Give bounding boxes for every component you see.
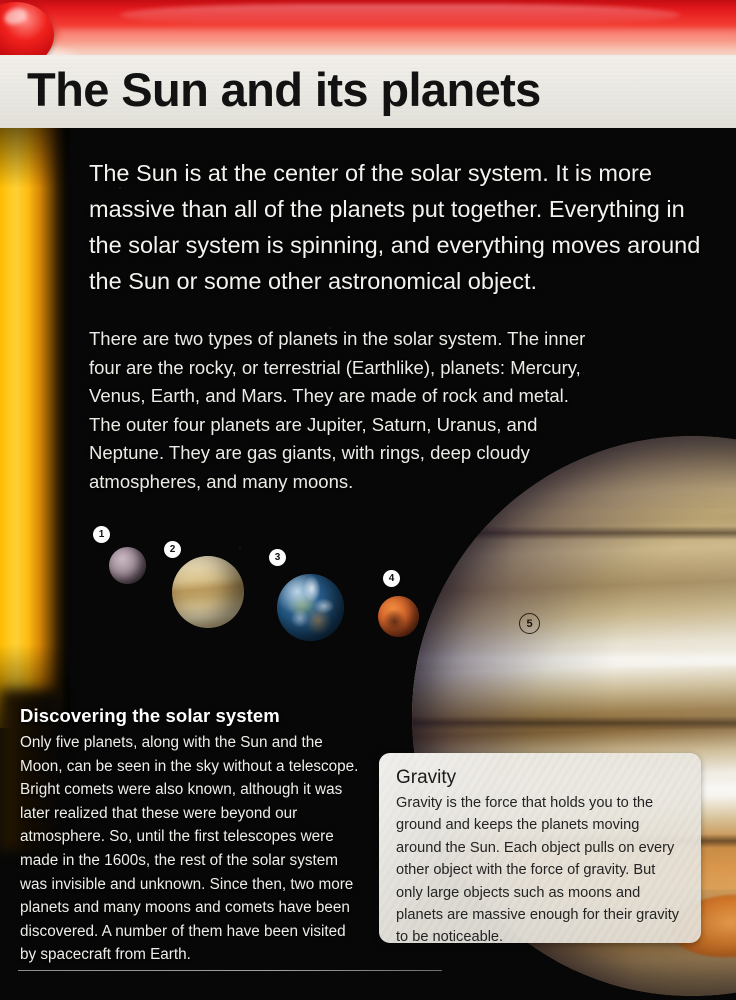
planet-callout-2: 2 (164, 541, 181, 558)
secondary-paragraph: There are two types of planets in the so… (89, 325, 589, 497)
discovering-body: Only five planets, along with the Sun an… (20, 731, 365, 967)
gravity-body: Gravity is the force that holds you to t… (396, 792, 685, 943)
planet-mars (378, 596, 419, 637)
banner-highlight-streak (120, 4, 680, 26)
discovering-heading: Discovering the solar system (20, 705, 365, 727)
gravity-callout-box: Gravity Gravity is the force that holds … (379, 753, 701, 943)
planet-venus (172, 556, 244, 628)
sun-glow (0, 128, 70, 728)
planet-callout-3: 3 (269, 549, 286, 566)
planet-callout-4: 4 (383, 570, 400, 587)
planet-callout-1: 1 (93, 526, 110, 543)
top-banner (0, 0, 736, 58)
gravity-heading: Gravity (396, 767, 685, 789)
footer-divider (18, 970, 442, 971)
page-canvas: The Sun and its planets The Sun is at th… (0, 0, 736, 1000)
planet-earth (277, 574, 344, 641)
banner-highlight-streak-2 (60, 30, 736, 48)
page-title: The Sun and its planets (27, 60, 541, 120)
planet-mercury (109, 547, 146, 584)
discovering-section: Discovering the solar system Only five p… (20, 705, 365, 967)
gravity-callout-inner: Gravity Gravity is the force that holds … (379, 753, 701, 943)
planet-callout-5: 5 (519, 613, 540, 634)
lead-paragraph: The Sun is at the center of the solar sy… (89, 155, 714, 299)
